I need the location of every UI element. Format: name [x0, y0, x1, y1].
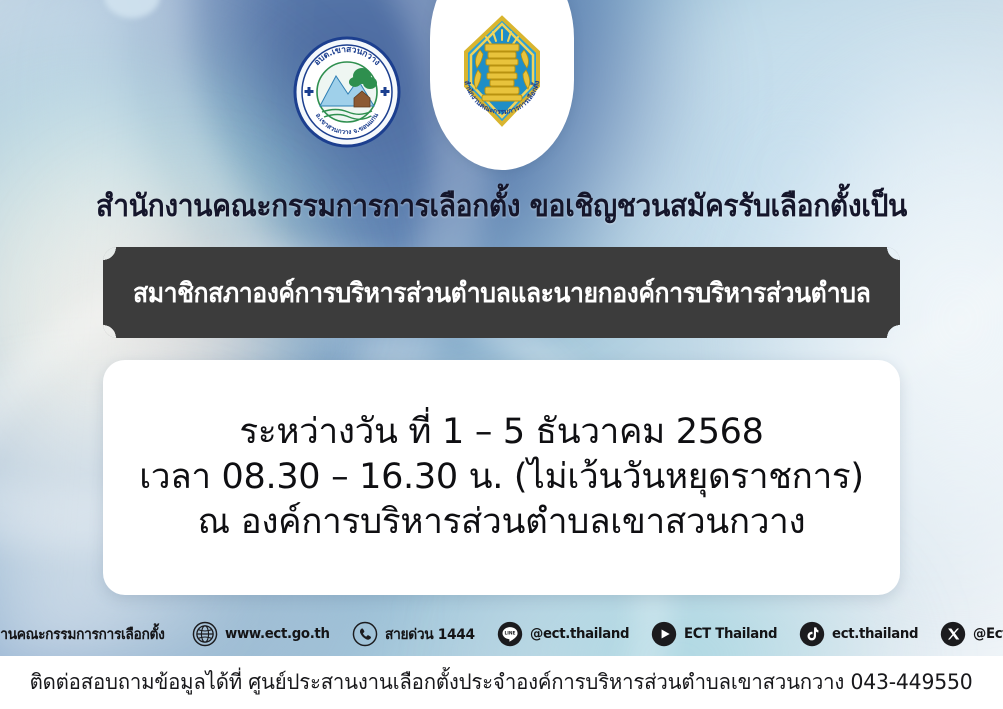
- position-banner: สมาชิกสภาองค์การบริหารส่วนตำบลและนายกองค…: [103, 247, 900, 338]
- details-date-line: ระหว่างวัน ที่ 1 – 5 ธันวาคม 2568: [239, 411, 763, 454]
- poster-headline: สำนักงานคณะกรรมการการเลือกตั้ง ขอเชิญชวน…: [30, 183, 973, 230]
- contact-strip: ติดต่อสอบถามข้อมูลได้ที่ ศูนย์ประสานงานเ…: [0, 656, 1003, 709]
- position-banner-text: สมาชิกสภาองค์การบริหารส่วนตำบลและนายกองค…: [133, 271, 870, 314]
- social-item-tiktok[interactable]: ect.thailand: [799, 621, 923, 647]
- social-links-bar: สำนักงานคณะกรรมการการเลือกตั้ง www.ect.g…: [0, 612, 1003, 656]
- social-label-website: www.ect.go.th: [225, 626, 330, 642]
- line-icon: LINE: [497, 621, 523, 647]
- contact-text: ติดต่อสอบถามข้อมูลได้ที่ ศูนย์ประสานงานเ…: [30, 666, 973, 699]
- social-item-x[interactable]: @EctThailand: [940, 621, 1003, 647]
- youtube-icon: [651, 621, 677, 647]
- social-item-facebook[interactable]: สำนักงานคณะกรรมการการเลือกตั้ง: [0, 621, 175, 647]
- details-time-line: เวลา 08.30 – 16.30 น. (ไม่เว้นวันหยุดราช…: [139, 456, 864, 499]
- social-item-website[interactable]: www.ect.go.th: [192, 621, 335, 647]
- social-label-x: @EctThailand: [973, 626, 1003, 642]
- social-item-hotline[interactable]: สายด่วน 1444: [352, 621, 480, 647]
- social-label-youtube: ECT Thailand: [684, 626, 777, 642]
- social-label-facebook: สำนักงานคณะกรรมการการเลือกตั้ง: [0, 623, 164, 646]
- details-card: ระหว่างวัน ที่ 1 – 5 ธันวาคม 2568 เวลา 0…: [103, 360, 900, 595]
- ect-thailand-seal: สำนักงานคณะกรรมการการเลือกตั้ง: [452, 12, 552, 138]
- social-label-tiktok: ect.thailand: [832, 626, 918, 642]
- social-item-line[interactable]: LINE @ect.thailand: [497, 621, 634, 647]
- x-twitter-icon: [940, 621, 966, 647]
- details-location-line: ณ องค์การบริหารส่วนตำบลเขาสวนกวาง: [198, 501, 806, 544]
- social-label-line: @ect.thailand: [530, 626, 629, 642]
- globe-icon: [192, 621, 218, 647]
- abt-khaosuankwang-seal: อบต.เขาสวนกวาง อ.เขาสวนกวาง จ.ขอนแก่น: [292, 36, 402, 148]
- poster-canvas: สำนักงานคณะกรรมการการเลือกตั้ง: [0, 0, 1003, 709]
- svg-text:LINE: LINE: [504, 631, 515, 637]
- social-label-hotline: สายด่วน 1444: [385, 623, 475, 646]
- tiktok-icon: [799, 621, 825, 647]
- social-item-youtube[interactable]: ECT Thailand: [651, 621, 782, 647]
- phone-icon: [352, 621, 378, 647]
